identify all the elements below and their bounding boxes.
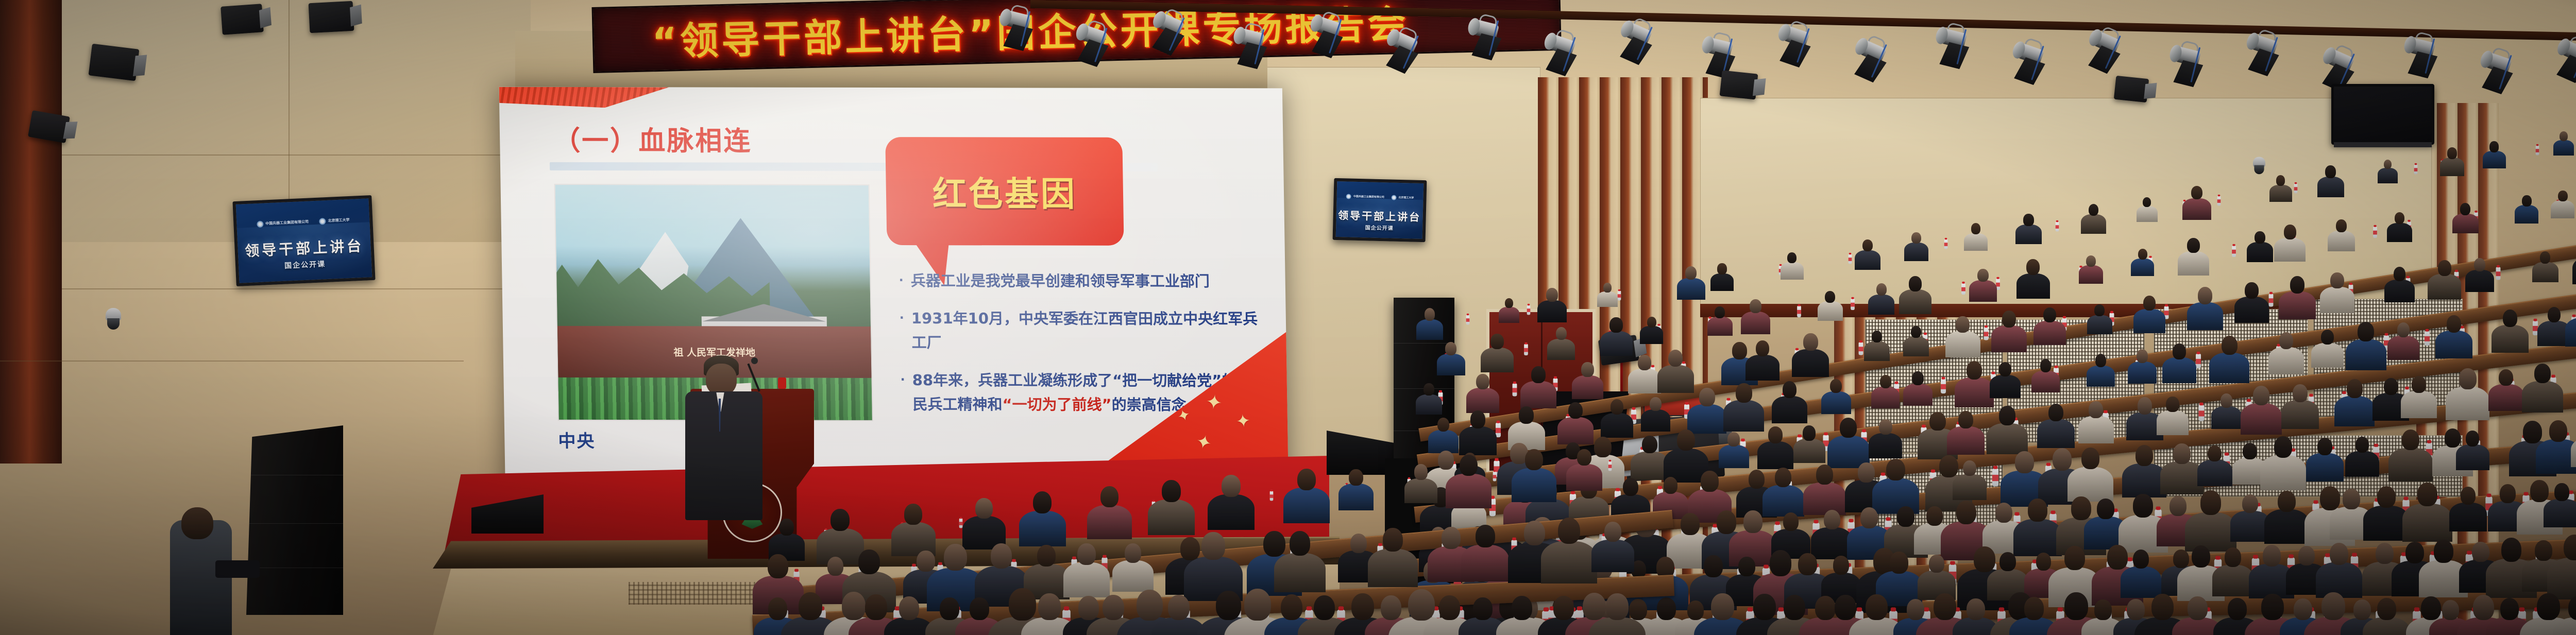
audience-member-head bbox=[2472, 542, 2489, 562]
bullet-marker: · bbox=[899, 306, 904, 330]
audience-member-head bbox=[1939, 455, 1958, 477]
audience-member-head bbox=[1470, 410, 1485, 428]
audience-member-head bbox=[1606, 593, 1629, 620]
audience-member-torso bbox=[1461, 545, 1509, 581]
audience-member-head bbox=[1125, 543, 1141, 563]
audience-member-head bbox=[2376, 543, 2394, 564]
audience-member-head bbox=[2143, 197, 2151, 207]
audience-member-torso bbox=[1019, 511, 1066, 546]
audience-member-head bbox=[1604, 522, 1621, 542]
audience-member-torso bbox=[1710, 273, 1734, 291]
audience-member-torso bbox=[2131, 259, 2154, 276]
audience-member-torso bbox=[1991, 325, 2027, 352]
water-bottle bbox=[1512, 383, 1517, 396]
audience-member-head bbox=[799, 592, 822, 620]
audience-member-head bbox=[2138, 397, 2153, 415]
audience-member-head bbox=[1926, 506, 1943, 526]
audience-member-head bbox=[1911, 326, 1921, 338]
audience-member-torso bbox=[2572, 257, 2576, 284]
audience-member-torso bbox=[2363, 617, 2410, 635]
audience-member-torso bbox=[1631, 452, 1668, 480]
audience-member-head bbox=[1687, 600, 1704, 620]
audience-member-torso bbox=[1481, 348, 1514, 373]
audience-member-torso bbox=[1872, 478, 1919, 514]
audience-member-torso bbox=[2269, 185, 2292, 202]
audience-member-head bbox=[2447, 315, 2462, 333]
audience-member-head bbox=[1860, 507, 1878, 528]
audience-member-torso bbox=[2387, 336, 2419, 360]
audience-member-torso bbox=[2311, 343, 2344, 368]
audience-member-head bbox=[944, 544, 967, 571]
audience-member-head bbox=[1995, 503, 2012, 523]
audience-member-torso bbox=[1947, 426, 1984, 455]
audience-member-torso bbox=[2551, 200, 2574, 218]
audience-member-head bbox=[2192, 545, 2211, 568]
audience-member-head bbox=[2188, 596, 2208, 620]
audience-member-head bbox=[2558, 191, 2567, 202]
audience-member-torso bbox=[1087, 505, 1132, 539]
audience-member-head bbox=[2261, 594, 2283, 620]
stage-spotlight bbox=[309, 1, 354, 33]
audience-member-torso bbox=[1572, 375, 1603, 399]
audience-member-torso bbox=[1641, 409, 1670, 432]
audience-member-head bbox=[1743, 510, 1762, 533]
audience-member-head bbox=[2043, 307, 2056, 323]
audience-member-head bbox=[1890, 552, 1908, 573]
audience-member-head bbox=[2095, 354, 2107, 367]
audience-member-head bbox=[1668, 350, 1683, 367]
audience-member-head bbox=[1704, 555, 1722, 577]
audience-member-head bbox=[1423, 383, 1434, 396]
audience-member-head bbox=[2222, 336, 2238, 355]
bit-logo: 北京理工大学 bbox=[319, 217, 350, 225]
audience-member-torso bbox=[2488, 384, 2524, 411]
audience-member-head bbox=[1349, 469, 1363, 486]
audience-member-head bbox=[1681, 513, 1700, 535]
audience-member-torso bbox=[1899, 289, 1931, 314]
audience-member-head bbox=[2173, 344, 2186, 359]
audience-member-torso bbox=[2387, 223, 2412, 242]
audience-member-head bbox=[2187, 238, 2200, 253]
audience-member-torso bbox=[2334, 396, 2375, 426]
stage-spotlight bbox=[1720, 70, 1758, 99]
audience-member-head bbox=[2442, 600, 2459, 620]
audience-member-torso bbox=[1404, 478, 1437, 504]
norinco-logo: 中国兵器工业集团有限公司 bbox=[1346, 194, 1384, 200]
audience-member-head bbox=[2321, 592, 2345, 620]
auditorium-scene: “领导干部上讲台”国企公开课专场报告会 中国兵器工业集团有限公司 北京理工大学 … bbox=[0, 0, 2576, 635]
right-wall-screen[interactable]: 中国兵器工业集团有限公司 北京理工大学 领导干部上讲台 国企公开课 bbox=[1333, 178, 1427, 242]
dove-icon: ✦ bbox=[1205, 392, 1223, 414]
audience-member-torso bbox=[1520, 381, 1556, 408]
audience-member-head bbox=[1438, 451, 1454, 470]
audience-member-head bbox=[2023, 214, 2033, 226]
audience-member-head bbox=[1738, 557, 1755, 576]
audience-member-head bbox=[1611, 399, 1623, 415]
audience-member-head bbox=[2554, 483, 2569, 501]
audience-member-head bbox=[2325, 165, 2336, 178]
water-bottle bbox=[1992, 469, 1998, 487]
audience-member-head bbox=[2245, 282, 2259, 298]
audience-member-head bbox=[2089, 401, 2103, 418]
audience-member-torso bbox=[2122, 464, 2166, 497]
audience-member-head bbox=[2138, 249, 2147, 260]
audience-member-torso bbox=[2247, 242, 2273, 262]
audience-member-torso bbox=[1428, 430, 1459, 453]
dome-camera-icon bbox=[106, 308, 121, 332]
audience-member-head bbox=[1886, 459, 1905, 481]
audience-member-head bbox=[2535, 540, 2552, 561]
audience-member-head bbox=[1974, 546, 1995, 572]
audience-member-torso bbox=[2428, 274, 2461, 300]
audience-member-torso bbox=[1274, 553, 1326, 592]
audience-member-torso bbox=[1466, 388, 1499, 413]
speaker-at-podium bbox=[679, 355, 772, 525]
audience-member-head bbox=[1594, 437, 1612, 457]
audience-member-head bbox=[1546, 288, 1558, 302]
slide-photo-caption: 中央 bbox=[558, 427, 596, 452]
audience-member-head bbox=[1524, 521, 1545, 545]
audience-member-head bbox=[2459, 368, 2477, 389]
audience-member-head bbox=[1425, 308, 1435, 321]
audience-member-head bbox=[2263, 545, 2281, 567]
audience-member-head bbox=[1583, 593, 1606, 621]
audience-member-torso bbox=[1597, 291, 1618, 307]
audience-member-head bbox=[2200, 490, 2221, 514]
audience-member-head bbox=[2151, 594, 2174, 620]
audience-member-head bbox=[2097, 499, 2114, 519]
audience-member-head bbox=[2081, 448, 2099, 469]
audience-member-head bbox=[1715, 306, 1725, 318]
audience-member-head bbox=[2540, 251, 2550, 264]
audience-member-head bbox=[940, 597, 959, 620]
audience-member-torso bbox=[2378, 168, 2398, 183]
audience-member-torso bbox=[1969, 280, 1997, 301]
audience-member-head bbox=[2278, 491, 2296, 512]
audience-member-head bbox=[2317, 438, 2332, 455]
audience-member-head bbox=[768, 554, 788, 578]
audience-member-head bbox=[1912, 371, 1924, 385]
audience-member-torso bbox=[1657, 365, 1694, 393]
audience-member-torso bbox=[2137, 206, 2158, 222]
audience-member-head bbox=[1314, 595, 1335, 621]
audience-member-torso bbox=[2553, 140, 2574, 156]
audience-member-head bbox=[2522, 195, 2531, 207]
left-screen-logo-row: 中国兵器工业集团有限公司 北京理工大学 bbox=[236, 216, 369, 229]
water-bottle bbox=[1984, 328, 1989, 340]
audience-member-head bbox=[1824, 510, 1840, 529]
audience-member-head bbox=[2466, 431, 2479, 447]
audience-member-torso bbox=[2087, 366, 2114, 387]
right-screen-logo-row: 中国兵器工业集团有限公司 北京理工大学 bbox=[1337, 194, 1423, 201]
audience-member-head bbox=[1879, 419, 1892, 435]
audience-member-torso bbox=[1903, 384, 1933, 406]
audience-member-head bbox=[1783, 381, 1797, 398]
audience-member-head bbox=[2445, 428, 2461, 448]
audience-member-head bbox=[2460, 203, 2470, 215]
audience-member-torso bbox=[2446, 387, 2489, 420]
audience-member-head bbox=[1038, 593, 1061, 620]
audience-member-head bbox=[2228, 598, 2247, 620]
audience-member-head bbox=[1956, 316, 1970, 333]
water-bottle bbox=[2198, 405, 2204, 421]
bullet-text: 兵器工业是我党最早创建和领导军事工业部门 bbox=[910, 269, 1210, 294]
speaker-head bbox=[706, 364, 737, 396]
audience-member-torso bbox=[2440, 158, 2464, 176]
audience-member-torso bbox=[1148, 500, 1195, 535]
audience-member-head bbox=[2064, 546, 2085, 571]
audience-member-head bbox=[1162, 480, 1180, 502]
audience-member-torso bbox=[1803, 483, 1846, 515]
audience-member-torso bbox=[1719, 445, 1749, 468]
audience-member-head bbox=[1798, 553, 1817, 575]
audience-member-torso bbox=[2388, 448, 2433, 482]
audience-member-torso bbox=[1600, 331, 1633, 356]
audience-member-head bbox=[2320, 486, 2340, 510]
water-bottle bbox=[2232, 246, 2236, 258]
audience-member-head bbox=[1858, 462, 1875, 483]
wall-monitor-off[interactable] bbox=[2331, 84, 2434, 145]
audience-member-head bbox=[2548, 307, 2561, 322]
water-bottle bbox=[1524, 344, 1528, 355]
audience-member-torso bbox=[2515, 205, 2538, 223]
audience-member-torso bbox=[2565, 318, 2576, 347]
audience-member-head bbox=[1727, 432, 1740, 447]
water-bottle bbox=[2269, 294, 2274, 306]
audience-member-head bbox=[1907, 599, 1924, 620]
audience-member-torso bbox=[1537, 300, 1566, 322]
audience-member-head bbox=[975, 498, 993, 519]
audience-member-torso bbox=[1987, 423, 2028, 454]
audience-member-torso bbox=[2465, 270, 2494, 291]
norinco-logo-label: 中国兵器工业集团有限公司 bbox=[265, 219, 309, 227]
audience-member-torso bbox=[1745, 355, 1780, 381]
audience-member-torso bbox=[2449, 503, 2487, 531]
audience-member-torso bbox=[1793, 439, 1825, 463]
audience-member-head bbox=[2503, 310, 2518, 327]
red-gene-callout-label: 红色基因 bbox=[932, 166, 1077, 216]
audience-member-head bbox=[2094, 599, 2112, 620]
audience-member-torso bbox=[2033, 321, 2066, 346]
audience-member-head bbox=[2402, 430, 2419, 451]
audience-member-torso bbox=[2234, 297, 2269, 323]
audience-member-torso bbox=[2435, 331, 2472, 358]
audience-member-head bbox=[1201, 532, 1225, 560]
audience-member-torso bbox=[1868, 295, 1894, 315]
audience-member-head bbox=[2028, 499, 2047, 522]
audience-member-head bbox=[2276, 175, 2285, 186]
audience-member-torso bbox=[2328, 231, 2355, 251]
audience-member-head bbox=[2221, 393, 2232, 408]
audience-member-head bbox=[827, 557, 843, 576]
audience-member-head bbox=[1830, 379, 1842, 393]
audience-member-head bbox=[1100, 486, 1118, 507]
audience-member-head bbox=[2298, 546, 2315, 565]
norinco-logo-label: 中国兵器工业集团有限公司 bbox=[1353, 195, 1384, 199]
audience-member-torso bbox=[2522, 381, 2563, 413]
audience-member-head bbox=[1999, 362, 2011, 376]
audience-member-head bbox=[2253, 386, 2269, 405]
audience-member-head bbox=[1833, 556, 1849, 575]
audience-member-head bbox=[1753, 594, 1776, 620]
audience-member-head bbox=[1911, 232, 1921, 244]
audience-member-head bbox=[1037, 545, 1056, 567]
audience-member-head bbox=[1880, 375, 1891, 388]
audience-member-head bbox=[1967, 361, 1982, 380]
audience-member-torso bbox=[2013, 519, 2062, 556]
audience-member-head bbox=[1033, 491, 1052, 513]
audience-member-head bbox=[1701, 471, 1718, 491]
audience-member-torso bbox=[2452, 214, 2479, 233]
audience-member-head bbox=[865, 594, 887, 620]
audience-member-head bbox=[1749, 470, 1765, 489]
audience-member-head bbox=[842, 592, 866, 620]
audience-member-head bbox=[1414, 464, 1428, 479]
audience-member-head bbox=[1581, 362, 1594, 377]
audience-member-head bbox=[2173, 443, 2190, 464]
audience-member-head bbox=[1657, 597, 1676, 620]
audience-member-head bbox=[2191, 186, 2202, 199]
left-wall-screen[interactable]: 中国兵器工业集团有限公司 北京理工大学 领导干部上讲台 国企公开课 bbox=[232, 195, 375, 286]
audience-member-torso bbox=[2456, 444, 2489, 470]
audience-member-head bbox=[1168, 595, 1190, 621]
water-bottle bbox=[2373, 227, 2377, 238]
audience-member-head bbox=[858, 550, 879, 575]
audience-member-torso bbox=[2081, 214, 2106, 233]
audience-member-head bbox=[970, 597, 989, 621]
audience-member-torso bbox=[2016, 273, 2050, 299]
water-bottle bbox=[2196, 354, 2201, 368]
bit-logo-label: 北京理工大学 bbox=[1398, 196, 1414, 200]
audience-member-head bbox=[2053, 448, 2072, 471]
audience-member-head bbox=[2127, 599, 2145, 620]
left-wood-pillar bbox=[0, 0, 62, 464]
water-bottle bbox=[1496, 423, 1501, 437]
audience-member-head bbox=[2355, 437, 2369, 453]
audience-member-head bbox=[2133, 550, 2149, 569]
audience-member-head bbox=[2384, 160, 2392, 169]
audience-member-torso bbox=[2320, 287, 2354, 313]
wall-seam bbox=[62, 288, 531, 289]
audience-member-torso bbox=[1757, 441, 1793, 469]
audience-member-head bbox=[2208, 445, 2222, 462]
audience-member-head bbox=[1519, 406, 1534, 424]
audience-member-head bbox=[2421, 596, 2441, 620]
audience-member-head bbox=[1685, 266, 1697, 280]
audience-member-torso bbox=[2241, 403, 2282, 435]
red-gene-callout: 红色基因 bbox=[885, 137, 1124, 246]
audience-member-head bbox=[1525, 449, 1543, 470]
water-bottle bbox=[1944, 239, 1948, 249]
audience-member-torso bbox=[2067, 467, 2113, 502]
audience-member-head bbox=[2447, 147, 2457, 159]
audience-member-head bbox=[2330, 543, 2348, 565]
audience-member-head bbox=[1512, 596, 1532, 620]
audience-member-head bbox=[1840, 418, 1857, 438]
audience-member-head bbox=[1866, 594, 1888, 620]
audience-member-head bbox=[2242, 494, 2258, 513]
audience-member-head bbox=[1383, 528, 1403, 552]
slide-bullet-item: · 兵器工业是我党最早创建和领导军事工业部门 bbox=[899, 269, 1260, 294]
audience-member-head bbox=[1732, 342, 1747, 359]
audience-member-head bbox=[1717, 510, 1737, 534]
water-bottle bbox=[1466, 315, 1469, 324]
audience-member-torso bbox=[1821, 391, 1851, 414]
audience-member-head bbox=[2500, 484, 2516, 503]
audience-member-torso bbox=[2384, 280, 2415, 303]
audience-member-head bbox=[1756, 340, 1769, 356]
audience-member-head bbox=[1078, 596, 1099, 620]
audience-member-head bbox=[1350, 534, 1367, 553]
audience-member-torso bbox=[2162, 357, 2196, 383]
audience-member-head bbox=[1558, 518, 1581, 544]
water-bottle bbox=[1858, 342, 1863, 355]
audience-member-head bbox=[2499, 369, 2513, 386]
audience-member-torso bbox=[2279, 291, 2315, 319]
bit-logo-label: 北京理工大学 bbox=[328, 217, 349, 224]
water-bottle bbox=[2533, 321, 2538, 335]
stage-spotlight bbox=[2114, 76, 2149, 102]
audience-member-head bbox=[1577, 449, 1591, 466]
audience-member-head bbox=[1103, 595, 1124, 621]
audience-member-head bbox=[2143, 296, 2156, 311]
right-screen-title: 领导干部上讲台 bbox=[1336, 207, 1423, 224]
audience-member-head bbox=[2353, 599, 2371, 620]
red-ribbon-decor bbox=[499, 87, 670, 108]
audience-member-torso bbox=[1707, 317, 1733, 336]
audience-member-head bbox=[2198, 287, 2212, 304]
audience-member-torso bbox=[1591, 540, 1634, 572]
audience-member-torso bbox=[1416, 319, 1443, 340]
audience-member-head bbox=[1934, 593, 1957, 621]
audience-member-torso bbox=[1945, 331, 1980, 357]
audience-member-head bbox=[1775, 468, 1791, 487]
audience-member-head bbox=[2294, 598, 2312, 620]
audience-member-head bbox=[1442, 527, 1460, 549]
audience-member-head bbox=[2417, 483, 2437, 506]
audience-member-head bbox=[2071, 496, 2091, 520]
audience-member-torso bbox=[1781, 262, 1804, 280]
audience-member-head bbox=[1445, 342, 1456, 355]
audience-member-torso bbox=[1723, 400, 1764, 431]
audience-member-torso bbox=[1677, 278, 1705, 300]
audience-member-head bbox=[2330, 272, 2344, 289]
camera-operator-head bbox=[181, 507, 213, 539]
audience-member-head bbox=[1958, 411, 1973, 428]
audience-member-torso bbox=[1792, 349, 1829, 377]
audience-member-torso bbox=[2128, 362, 2157, 384]
audience-member-torso bbox=[2260, 455, 2306, 490]
stage-spotlight bbox=[221, 4, 264, 35]
water-bottle bbox=[1493, 472, 1496, 482]
bullet-text: 1931年10月，中央军委在江西官田成立中央红军兵工厂 bbox=[911, 306, 1261, 355]
audience-member-torso bbox=[2209, 353, 2249, 383]
audience-member-torso bbox=[1112, 560, 1154, 592]
audience-member-torso bbox=[1338, 484, 1374, 510]
audience-member-head bbox=[1460, 455, 1478, 476]
audience-member-head bbox=[2347, 379, 2363, 398]
audience-member-head bbox=[2560, 131, 2568, 141]
audience-member-head bbox=[1297, 469, 1316, 490]
audience-member-head bbox=[1717, 263, 1726, 274]
audience-member-torso bbox=[1955, 377, 1994, 407]
audience-member-head bbox=[1505, 298, 1513, 308]
audience-member-torso bbox=[2197, 460, 2232, 486]
projection-screen: （一）血脉相连 祖 人民军工发祥地 中央 红色基因 · 兵器工业是我党最早创建和… bbox=[499, 87, 1289, 501]
audience-member-head bbox=[1825, 291, 1835, 303]
bullet-highlight: “一切为了前线” bbox=[1002, 396, 1112, 413]
audience-member-head bbox=[768, 597, 787, 620]
